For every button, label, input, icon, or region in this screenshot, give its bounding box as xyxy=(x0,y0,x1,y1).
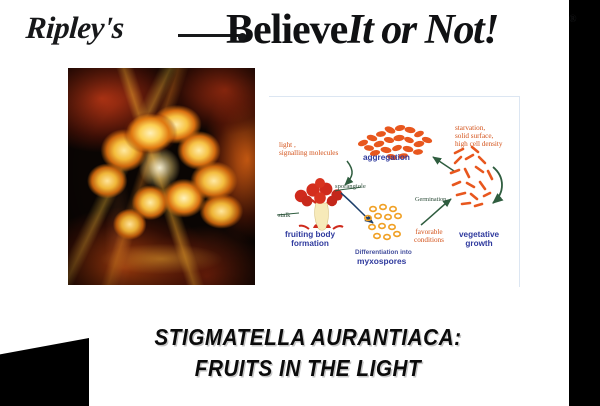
diagram-label-vegetative: vegetative growth xyxy=(459,230,499,248)
registered-trademark-icon: ® xyxy=(569,14,577,25)
diagram-label-sporangiole: sporangiole xyxy=(335,183,366,190)
photo-vignette-layer xyxy=(68,68,255,285)
logo-itornot-word: It or Not! xyxy=(347,7,498,53)
diagram-label-favorable: favorable conditions xyxy=(414,228,444,244)
lifecycle-diagram: light , signalling molecules starvation,… xyxy=(269,96,520,287)
arrow-fruiting-to-myxospores xyxy=(341,193,373,223)
diagram-label-starvation: starvation, solid surface, high cell den… xyxy=(455,124,503,148)
ripleys-logo: Ripley's BelieveIt or Not! ® xyxy=(26,6,566,58)
arrow-aggregation-to-fruiting xyxy=(345,161,352,185)
bottom-left-black-wedge xyxy=(0,338,89,406)
diagram-label-myxospores: myxospores xyxy=(357,257,406,266)
arrow-vegetative-cycle xyxy=(493,167,502,203)
right-black-bar xyxy=(569,0,600,406)
arrow-starvation-to-aggregation xyxy=(433,157,454,171)
diagram-label-germination: Germination xyxy=(415,197,446,204)
vegetative-rods-icon xyxy=(451,147,492,206)
diagram-label-fruiting-body: fruiting body formation xyxy=(285,230,335,248)
myxospores-icon xyxy=(365,205,401,240)
caption-line-1: STIGMATELLA AURANTIACA: xyxy=(110,322,506,353)
logo-believe-text: BelieveIt or Not! xyxy=(226,6,498,54)
micrograph-photo xyxy=(68,68,255,285)
diagram-label-stalk: stalk xyxy=(278,212,290,219)
caption-line-2: FRUITS IN THE LIGHT xyxy=(110,353,506,384)
slide-caption: STIGMATELLA AURANTIACA: FRUITS IN THE LI… xyxy=(110,322,506,383)
slide-canvas: Ripley's BelieveIt or Not! ® xyxy=(0,0,600,406)
logo-believe-word: Believe xyxy=(226,7,347,53)
logo-ripleys-text: Ripley's xyxy=(25,10,125,46)
diagram-label-aggregation: aggregation xyxy=(363,153,410,162)
diagram-label-light: light , signalling molecules xyxy=(279,141,338,157)
